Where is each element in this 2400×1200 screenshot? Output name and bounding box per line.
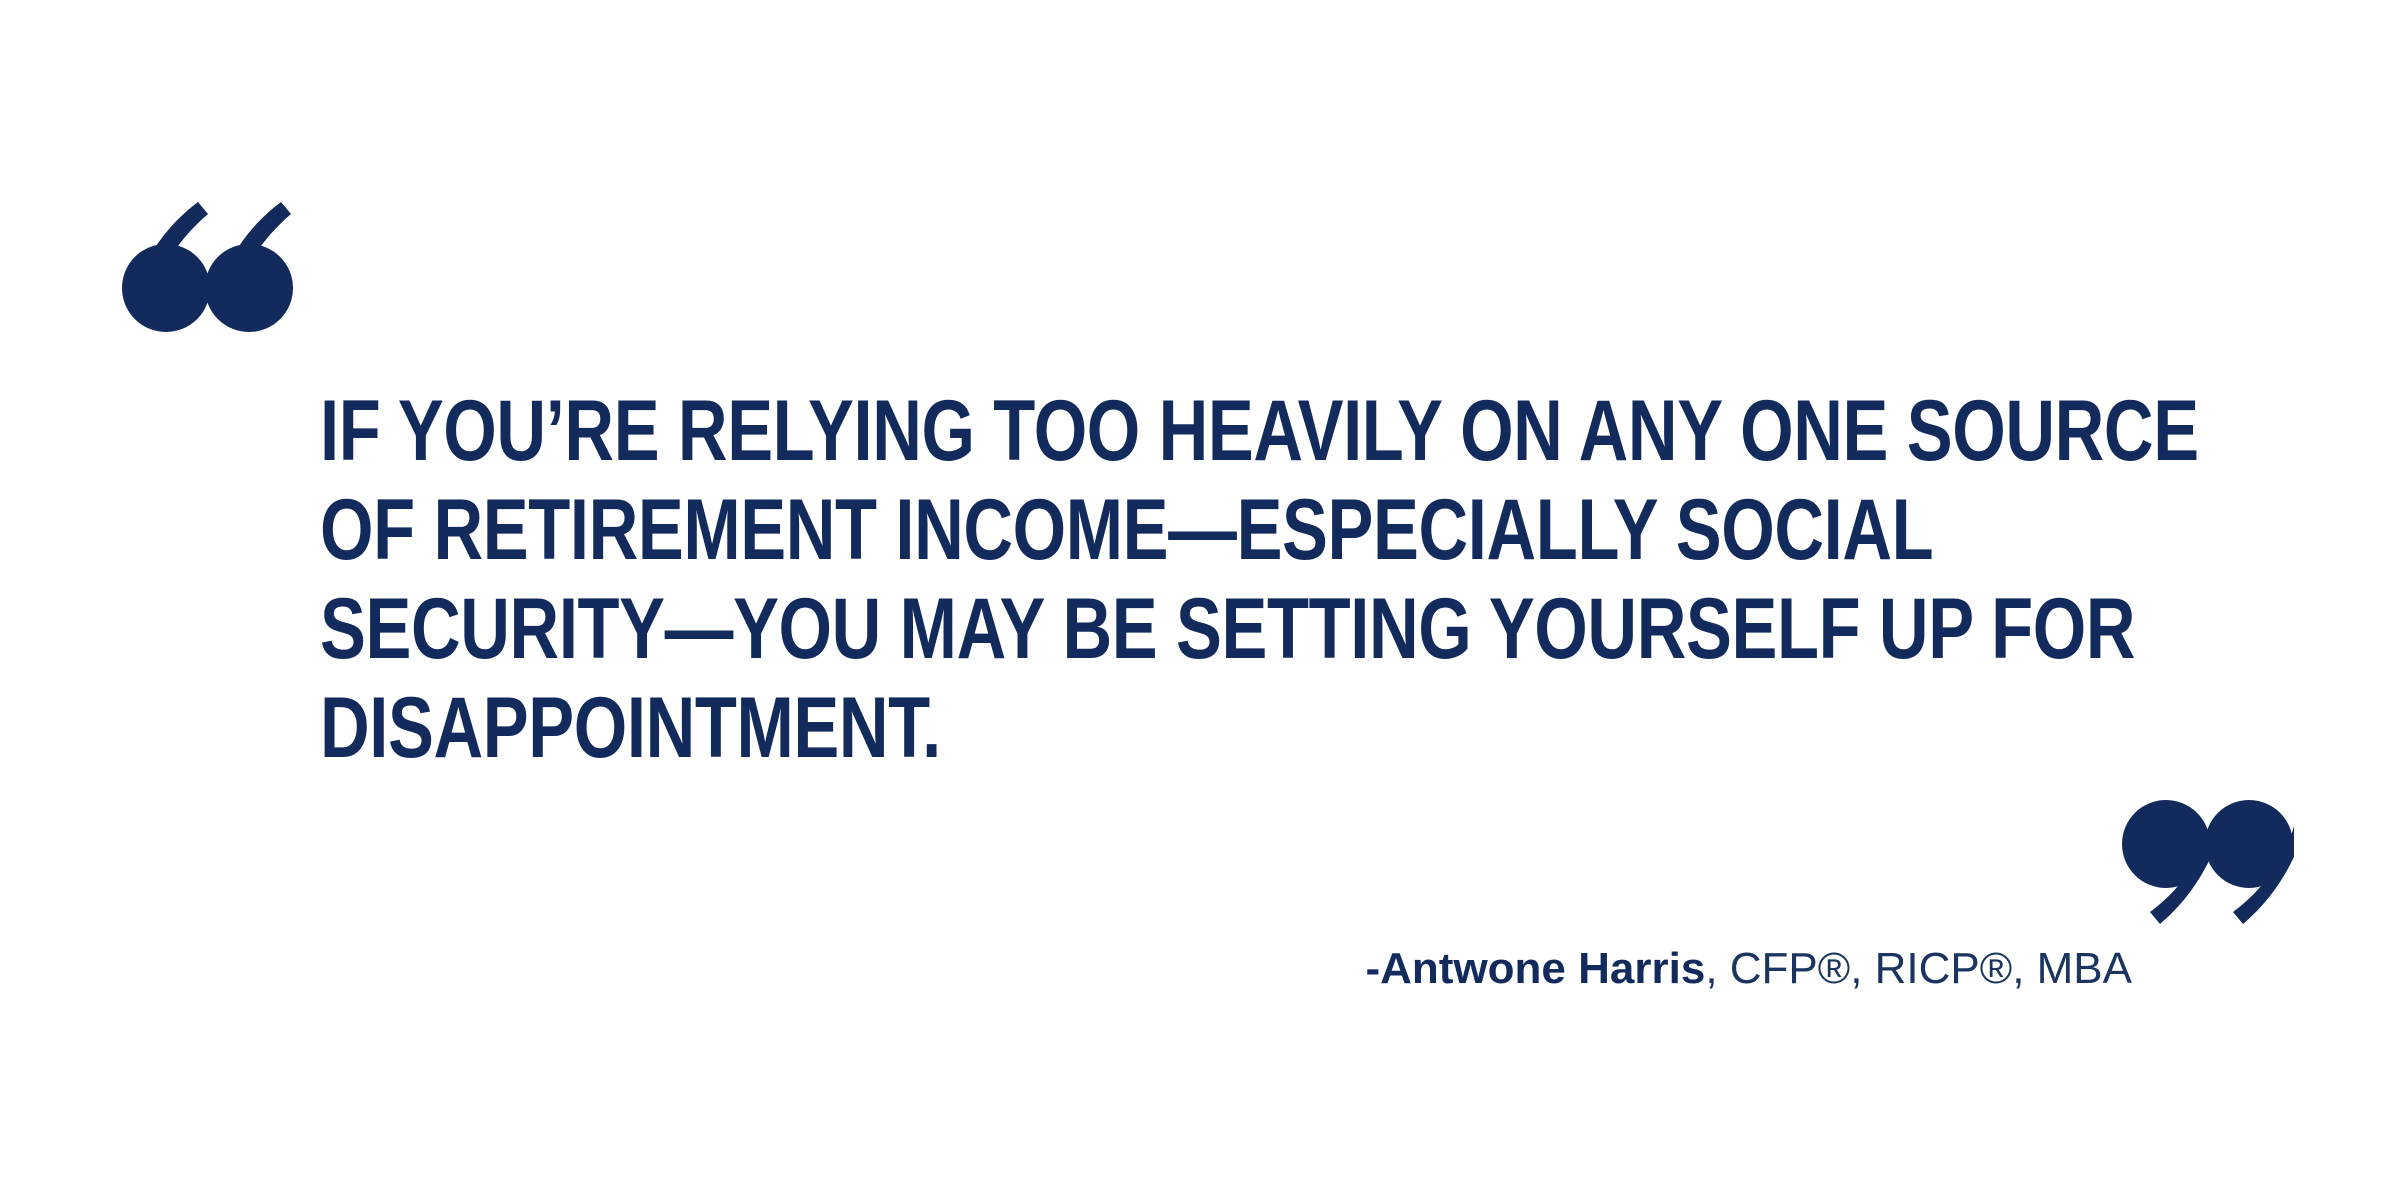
attribution-credentials: , CFP®, RICP®, MBA [1705,944,2132,993]
open-double-quote-icon [122,196,294,332]
attribution-author: -Antwone Harris [1366,944,1706,993]
close-double-quote-icon [2122,800,2294,936]
quote-attribution: -Antwone Harris, CFP®, RICP®, MBA [0,938,2132,1000]
quote-line: SECURITY—YOU MAY BE SETTING YOURSELF UP … [320,580,1760,679]
quote-text: IF YOU’RE RELYING TOO HEAVILY ON ANY ONE… [320,382,2120,778]
quote-line: DISAPPOINTMENT. [320,679,1760,778]
quote-card: IF YOU’RE RELYING TOO HEAVILY ON ANY ONE… [0,0,2400,1200]
quote-line: OF RETIREMENT INCOME—ESPECIALLY SOCIAL [320,481,1760,580]
quote-line: IF YOU’RE RELYING TOO HEAVILY ON ANY ONE… [320,382,1760,481]
